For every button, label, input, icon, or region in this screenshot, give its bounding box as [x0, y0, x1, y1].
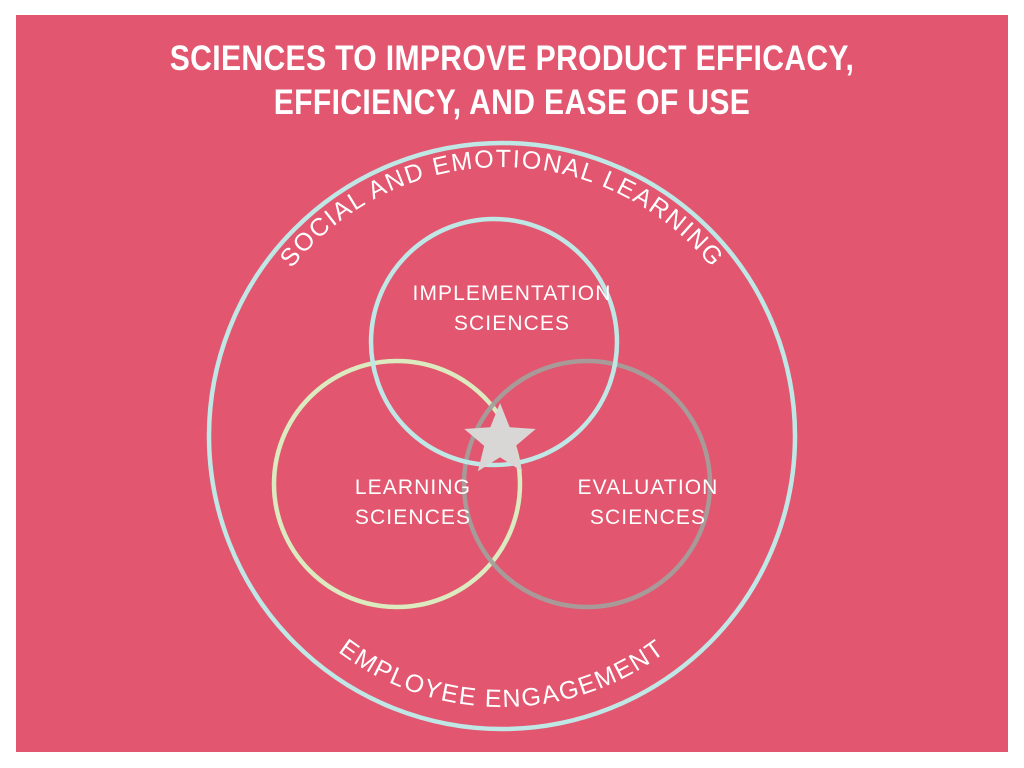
- outer-circle-top-label-text: Social and Emotional Learning: [275, 145, 730, 273]
- set-circle-learning: [274, 361, 520, 607]
- set-circle-evaluation: [464, 361, 710, 607]
- slide-canvas: Sciences to improve product efficacy, ef…: [16, 15, 1008, 752]
- outer-circle-top-label: Social and Emotional Learning: [275, 145, 730, 273]
- venn-diagram: Social and Emotional Learning Employee E…: [16, 15, 1008, 752]
- outer-circle-bottom-label-text: Employee Engagement: [334, 634, 670, 713]
- outer-circle-bottom-label: Employee Engagement: [334, 634, 670, 713]
